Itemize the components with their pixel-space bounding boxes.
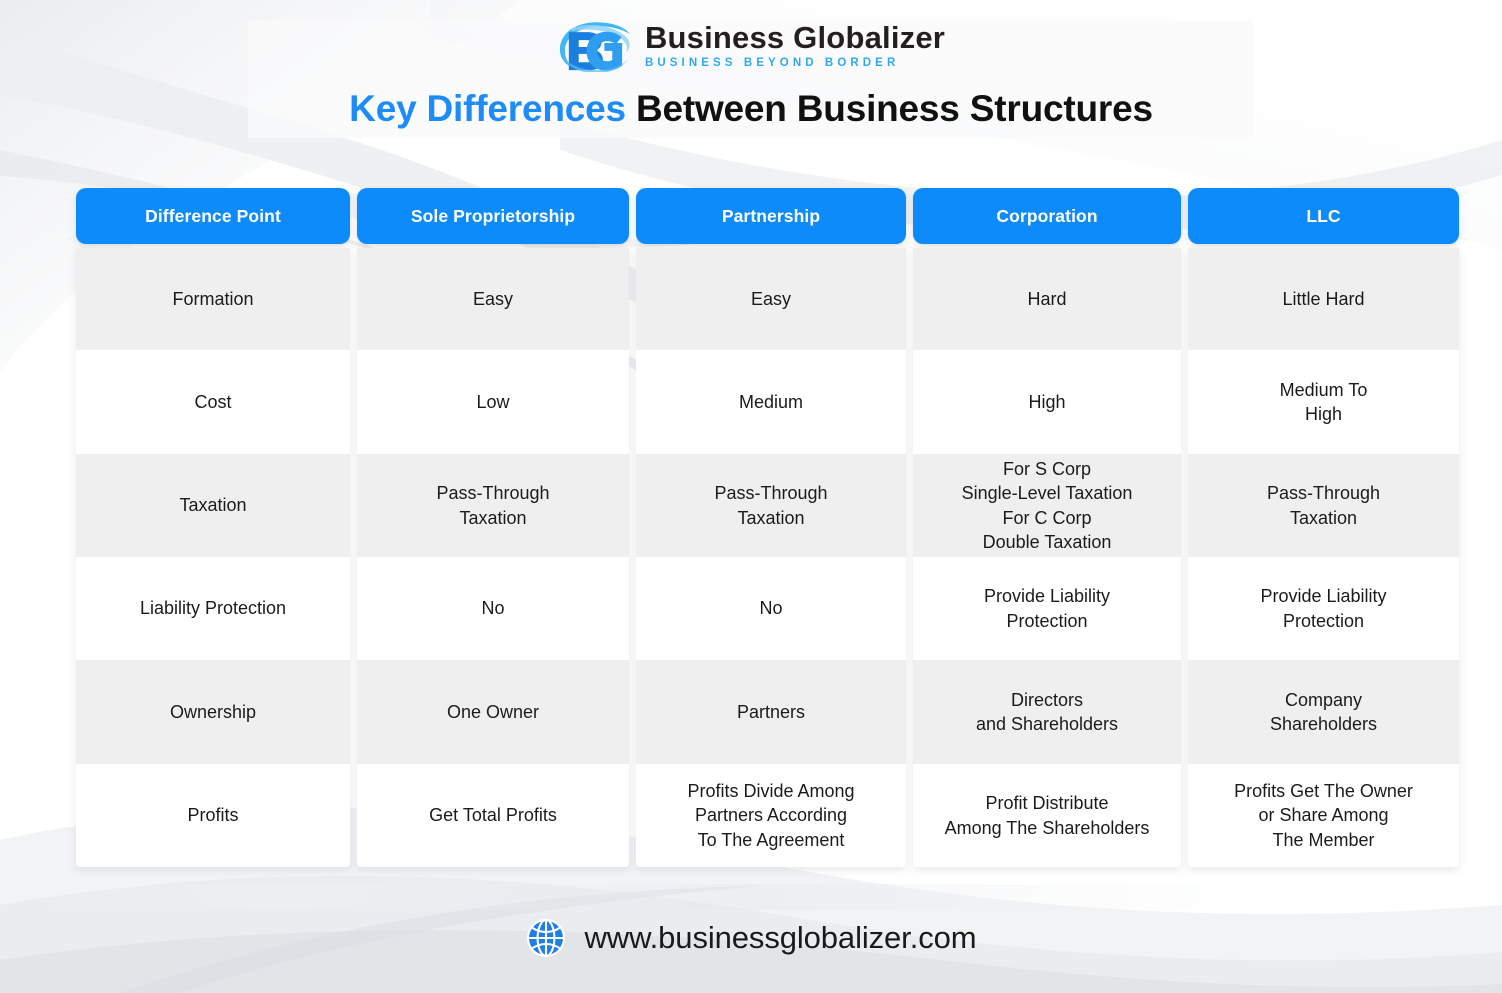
table-cell: For S CorpSingle-Level TaxationFor C Cor… (913, 454, 1181, 557)
page-title-accent: Key Differences (349, 88, 626, 129)
table-column-difference-point: Difference PointFormationCostTaxationLia… (76, 188, 350, 867)
table-column-corporation: CorporationHardHighFor S CorpSingle-Leve… (913, 188, 1181, 867)
table-cell: Little Hard (1188, 248, 1459, 350)
table-cell: Easy (636, 248, 906, 350)
row-label-cell: Formation (76, 248, 350, 350)
table-cell: Get Total Profits (357, 764, 629, 867)
table-cell: No (357, 557, 629, 660)
table-cell: Low (357, 350, 629, 454)
page-title: Key Differences Between Business Structu… (0, 88, 1502, 130)
row-label-cell: Taxation (76, 454, 350, 557)
column-header[interactable]: Difference Point (76, 188, 350, 244)
table-cell: One Owner (357, 660, 629, 764)
table-cell: Pass-ThroughTaxation (357, 454, 629, 557)
column-header[interactable]: Sole Proprietorship (357, 188, 629, 244)
table-cell: No (636, 557, 906, 660)
table-cell: Profit DistributeAmong The Shareholders (913, 764, 1181, 867)
row-label-cell: Profits (76, 764, 350, 867)
column-header[interactable]: Partnership (636, 188, 906, 244)
row-label-cell: Cost (76, 350, 350, 454)
table-cell: Easy (357, 248, 629, 350)
table-column-partnership: PartnershipEasyMediumPass-ThroughTaxatio… (636, 188, 906, 867)
table-cell: Provide LiabilityProtection (913, 557, 1181, 660)
page-title-rest: Between Business Structures (626, 88, 1153, 129)
table-cell: Medium ToHigh (1188, 350, 1459, 454)
table-column-llc: LLCLittle HardMedium ToHighPass-ThroughT… (1188, 188, 1459, 867)
table-cell: Pass-ThroughTaxation (1188, 454, 1459, 557)
table-cell: Partners (636, 660, 906, 764)
row-label-cell: Liability Protection (76, 557, 350, 660)
table-column-sole-proprietorship: Sole ProprietorshipEasyLowPass-ThroughTa… (357, 188, 629, 867)
table-cell: CompanyShareholders (1188, 660, 1459, 764)
table-cell: Hard (913, 248, 1181, 350)
table-cell: High (913, 350, 1181, 454)
brand-name: Business Globalizer (645, 22, 945, 53)
brand-header: Business Globalizer BUSINESS BEYOND BORD… (0, 20, 1502, 72)
table-cell: Medium (636, 350, 906, 454)
table-cell: Provide LiabilityProtection (1188, 557, 1459, 660)
table-cell: Profits Get The Owneror Share AmongThe M… (1188, 764, 1459, 867)
bg-monogram-icon (557, 20, 631, 72)
column-header[interactable]: LLC (1188, 188, 1459, 244)
brand-tagline: BUSINESS BEYOND BORDER (645, 58, 945, 70)
table-cell: Pass-ThroughTaxation (636, 454, 906, 557)
table-cell: Profits Divide AmongPartners AccordingTo… (636, 764, 906, 867)
footer: www.businessglobalizer.com (0, 918, 1502, 958)
table-cell: Directorsand Shareholders (913, 660, 1181, 764)
globe-icon (526, 918, 566, 958)
footer-url[interactable]: www.businessglobalizer.com (585, 920, 977, 956)
row-label-cell: Ownership (76, 660, 350, 764)
column-header[interactable]: Corporation (913, 188, 1181, 244)
comparison-table: Difference PointFormationCostTaxationLia… (76, 188, 1431, 867)
